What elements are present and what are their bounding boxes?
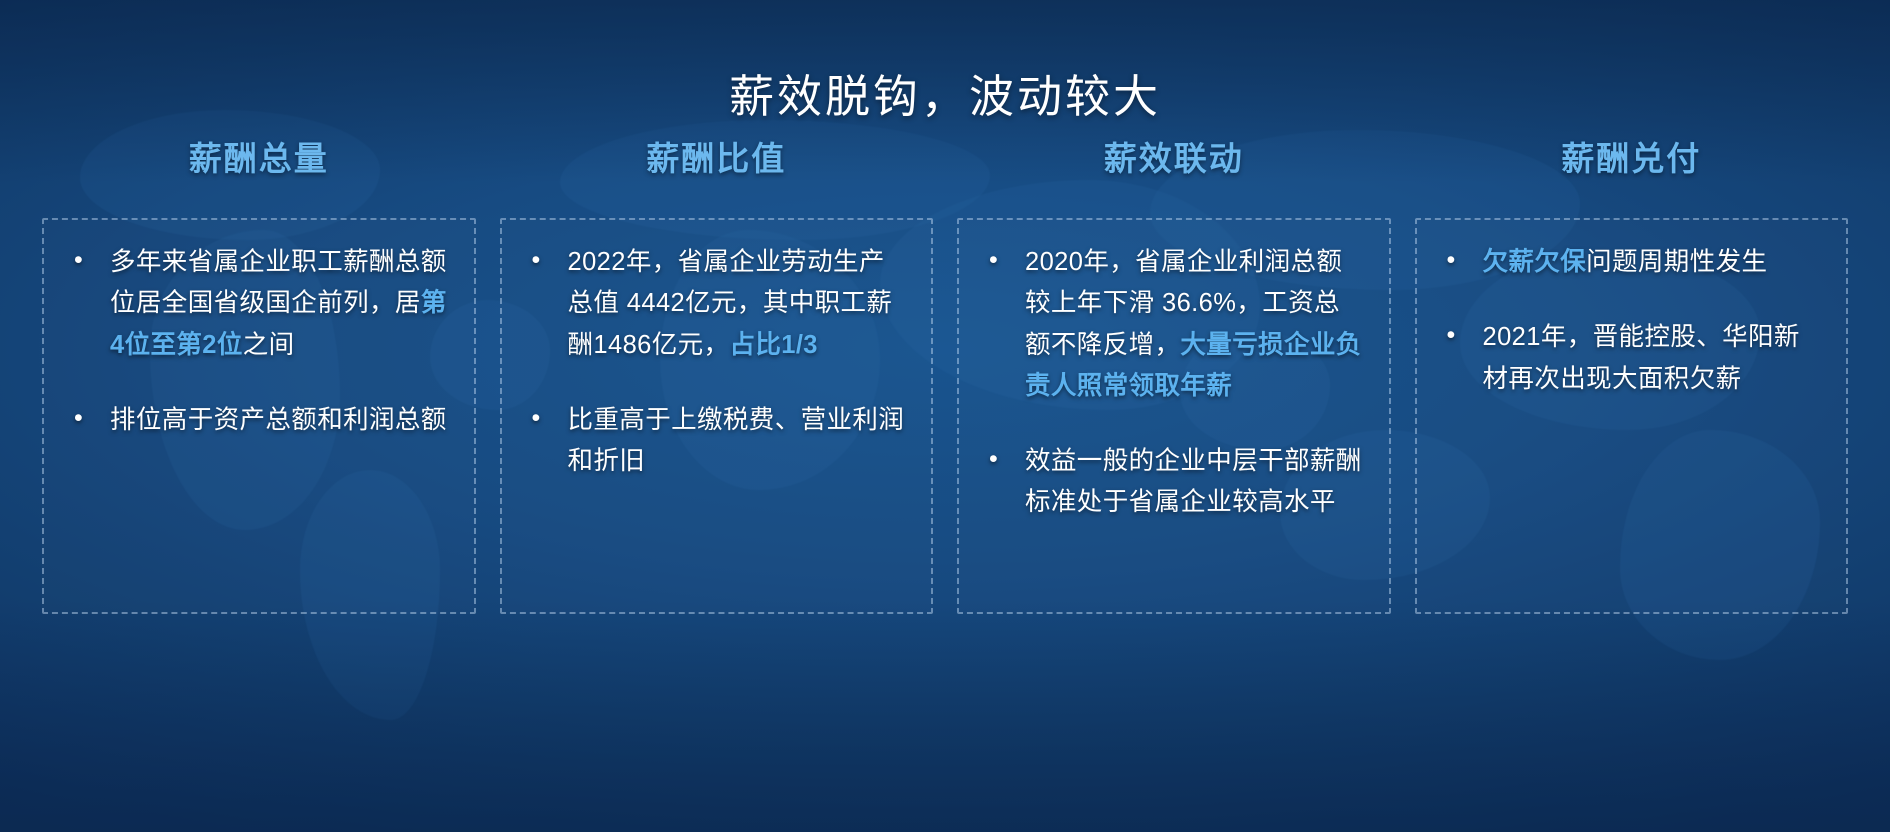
bullet-text-part: 效益一般的企业中层干部薪酬标准处于省属企业较高水平 [1025,447,1362,516]
page-title: 薪效脱钩，波动较大 [0,60,1890,125]
column-content-box: 多年来省属企业职工薪酬总额位居全国省级国企前列，居第 4位至第2位之间 排位高于… [42,218,476,614]
bullet-text-highlight: 占比1/3 [729,331,817,359]
bullet-text-highlight: 欠薪欠保 [1483,248,1587,276]
bullet-text-part: 比重高于上缴税费、营业利润和折旧 [568,406,905,475]
bullet-list: 2020年，省属企业利润总额较上年下滑 36.6%，工资总额不降反增，大量亏损企… [977,242,1363,524]
bullet-list: 欠薪欠保问题周期性发生 2021年，晋能控股、华阳新材再次出现大面积欠薪 [1435,242,1821,400]
list-item: 效益一般的企业中层干部薪酬标准处于省属企业较高水平 [977,441,1363,524]
column-salary-payment: 薪酬兑付 欠薪欠保问题周期性发生 2021年，晋能控股、华阳新材再次出现大面积欠… [1415,132,1849,614]
column-heading: 薪效联动 [957,132,1391,180]
column-heading: 薪酬比值 [500,132,934,180]
list-item: 2020年，省属企业利润总额较上年下滑 36.6%，工资总额不降反增，大量亏损企… [977,242,1363,407]
column-content-box: 2022年，省属企业劳动生产总值 4442亿元，其中职工薪酬1486亿元，占比1… [500,218,934,614]
bullet-text-part: 2021年，晋能控股、华阳新材再次出现大面积欠薪 [1483,323,1800,392]
bullet-text-part: 问题周期性发生 [1586,248,1767,276]
list-item: 欠薪欠保问题周期性发生 [1435,242,1821,283]
columns-container: 薪酬总量 多年来省属企业职工薪酬总额位居全国省级国企前列，居第 4位至第2位之间… [42,132,1848,614]
bullet-text-part: 之间 [243,331,295,359]
bullet-text-part: 排位高于资产总额和利润总额 [110,406,447,434]
slide-canvas: 薪效脱钩，波动较大 薪酬总量 多年来省属企业职工薪酬总额位居全国省级国企前列，居… [0,0,1890,832]
list-item: 2022年，省属企业劳动生产总值 4442亿元，其中职工薪酬1486亿元，占比1… [520,242,906,366]
column-salary-total: 薪酬总量 多年来省属企业职工薪酬总额位居全国省级国企前列，居第 4位至第2位之间… [42,132,476,614]
list-item: 排位高于资产总额和利润总额 [62,400,448,441]
bullet-list: 2022年，省属企业劳动生产总值 4442亿元，其中职工薪酬1486亿元，占比1… [520,242,906,482]
list-item: 2021年，晋能控股、华阳新材再次出现大面积欠薪 [1435,317,1821,400]
column-content-box: 2020年，省属企业利润总额较上年下滑 36.6%，工资总额不降反增，大量亏损企… [957,218,1391,614]
column-heading: 薪酬兑付 [1415,132,1849,180]
column-pay-performance-link: 薪效联动 2020年，省属企业利润总额较上年下滑 36.6%，工资总额不降反增，… [957,132,1391,614]
column-content-box: 欠薪欠保问题周期性发生 2021年，晋能控股、华阳新材再次出现大面积欠薪 [1415,218,1849,614]
bullet-list: 多年来省属企业职工薪酬总额位居全国省级国企前列，居第 4位至第2位之间 排位高于… [62,242,448,441]
column-salary-ratio: 薪酬比值 2022年，省属企业劳动生产总值 4442亿元，其中职工薪酬1486亿… [500,132,934,614]
list-item: 比重高于上缴税费、营业利润和折旧 [520,400,906,483]
bullet-text-part: 多年来省属企业职工薪酬总额位居全国省级国企前列，居 [110,248,447,317]
list-item: 多年来省属企业职工薪酬总额位居全国省级国企前列，居第 4位至第2位之间 [62,242,448,366]
column-heading: 薪酬总量 [42,132,476,180]
